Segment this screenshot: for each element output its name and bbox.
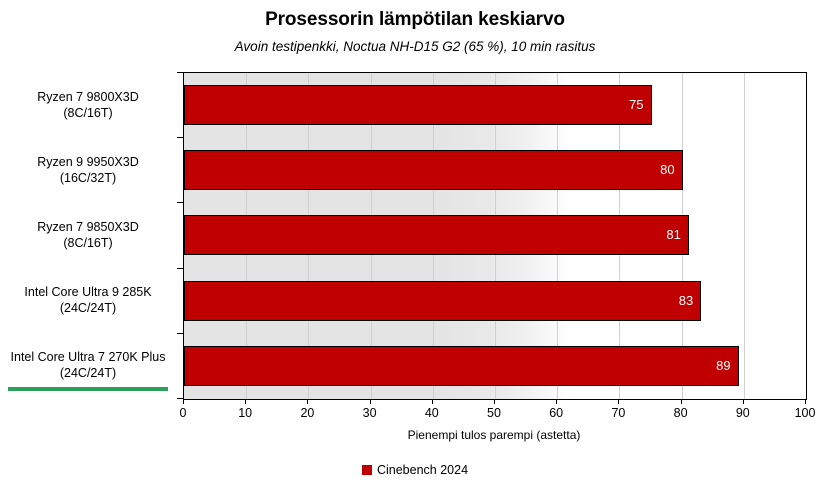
x-axis-tick-label: 80 <box>651 405 711 421</box>
bar[interactable]: 75 <box>184 85 652 125</box>
y-axis-label-cores: (16C/32T) <box>4 170 172 186</box>
y-axis-label-name: Ryzen 7 9850X3D <box>37 220 138 234</box>
highlight-underline <box>8 387 168 391</box>
bar-value-label: 80 <box>660 163 674 177</box>
y-axis-label-cores: (24C/24T) <box>4 365 172 381</box>
legend-label: Cinebench 2024 <box>377 463 468 477</box>
bar[interactable]: 81 <box>184 215 689 255</box>
legend-swatch-icon <box>362 465 372 475</box>
x-axis-tick <box>618 399 619 404</box>
y-axis-label: Intel Core Ultra 7 270K Plus(24C/24T) <box>4 349 172 381</box>
y-axis-label: Ryzen 9 9950X3D(16C/32T) <box>4 154 172 186</box>
x-axis-tick-label: 0 <box>153 405 213 421</box>
bar[interactable]: 80 <box>184 150 683 190</box>
y-axis-label: Intel Core Ultra 9 285K(24C/24T) <box>4 284 172 316</box>
x-axis-tick-label: 30 <box>340 405 400 421</box>
chart-legend: Cinebench 2024 <box>0 463 830 477</box>
bar-value-label: 75 <box>629 98 643 112</box>
y-axis-label-name: Intel Core Ultra 9 285K <box>24 285 151 299</box>
x-axis-tick <box>370 399 371 404</box>
y-axis-label-name: Intel Core Ultra 7 270K Plus <box>11 350 166 364</box>
x-axis-tick <box>307 399 308 404</box>
y-axis-label: Ryzen 7 9800X3D(8C/16T) <box>4 89 172 121</box>
x-axis-tick-label: 10 <box>215 405 275 421</box>
bar-row: 75 <box>184 73 806 138</box>
y-axis-label-cores: (8C/16T) <box>4 105 172 121</box>
chart-subtitle: Avoin testipenkki, Noctua NH-D15 G2 (65 … <box>0 38 830 56</box>
plot-area: 7580818389 <box>183 72 807 400</box>
y-axis-label-name: Ryzen 7 9800X3D <box>37 90 138 104</box>
x-axis-tick-label: 40 <box>402 405 462 421</box>
bar-row: 89 <box>184 334 806 399</box>
bar-value-label: 83 <box>679 294 693 308</box>
chart-title: Prosessorin lämpötilan keskiarvo <box>0 8 830 32</box>
bar-value-label: 89 <box>716 359 730 373</box>
x-axis-tick-label: 100 <box>775 405 830 421</box>
x-axis-tick <box>556 399 557 404</box>
x-axis-tick <box>681 399 682 404</box>
bar-row: 83 <box>184 269 806 334</box>
x-axis-tick-label: 90 <box>713 405 773 421</box>
x-axis-tick <box>743 399 744 404</box>
bar-row: 80 <box>184 138 806 203</box>
y-axis-label-name: Ryzen 9 9950X3D <box>37 155 138 169</box>
x-axis-tick <box>494 399 495 404</box>
bar-value-label: 81 <box>666 228 680 242</box>
x-axis-tick-label: 50 <box>464 405 524 421</box>
x-axis-tick <box>245 399 246 404</box>
x-axis-title: Pienempi tulos parempi (astetta) <box>183 427 805 443</box>
x-axis-tick-label: 20 <box>277 405 337 421</box>
bar[interactable]: 83 <box>184 281 701 321</box>
y-axis-label: Ryzen 7 9850X3D(8C/16T) <box>4 219 172 251</box>
x-axis-tick-label: 60 <box>526 405 586 421</box>
y-axis-label-cores: (8C/16T) <box>4 235 172 251</box>
y-axis-label-cores: (24C/24T) <box>4 300 172 316</box>
chart-container: Prosessorin lämpötilan keskiarvo Avoin t… <box>0 0 830 491</box>
x-axis-tick <box>183 399 184 404</box>
x-axis-tick-label: 70 <box>588 405 648 421</box>
x-axis-tick <box>805 399 806 404</box>
bar-row: 81 <box>184 203 806 268</box>
bars-layer: 7580818389 <box>184 73 806 399</box>
x-axis-tick <box>432 399 433 404</box>
bar[interactable]: 89 <box>184 346 739 386</box>
